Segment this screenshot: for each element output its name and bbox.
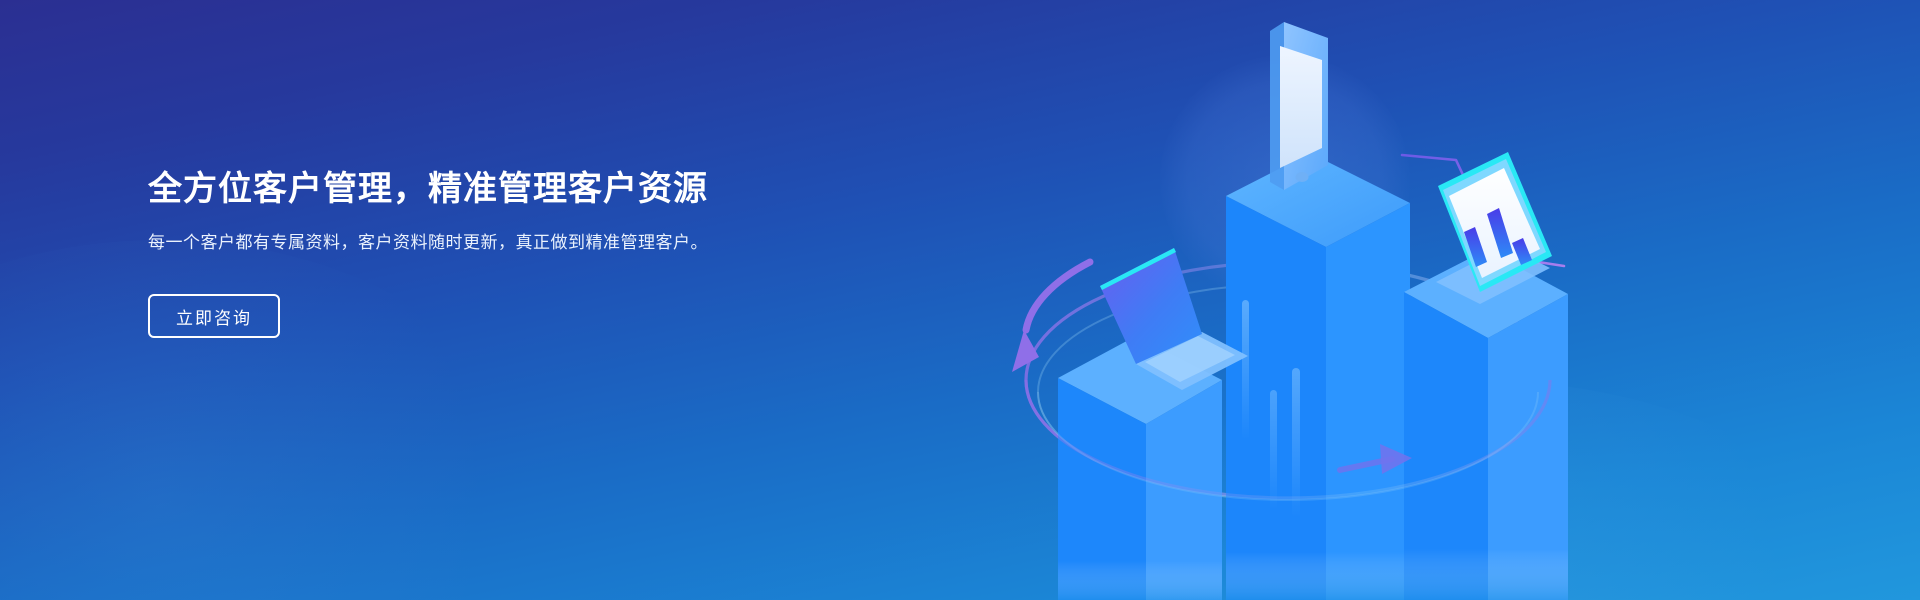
page-title: 全方位客户管理，精准管理客户资源: [148, 168, 768, 211]
center-pedestal: [1226, 153, 1410, 600]
right-pedestal: [1404, 250, 1568, 600]
consult-now-button[interactable]: 立即咨询: [148, 294, 280, 338]
tablet-device: [1270, 22, 1328, 190]
hero-subtitle: 每一个客户都有专属资料，客户资料随时更新，真正做到精准管理客户。: [148, 229, 748, 257]
hero-text-column: 全方位客户管理，精准管理客户资源 每一个客户都有专属资料，客户资料随时更新，真正…: [148, 168, 768, 338]
hero-banner: 全方位客户管理，精准管理客户资源 每一个客户都有专属资料，客户资料随时更新，真正…: [0, 0, 1920, 600]
orbit-arrow-left-icon: [1012, 262, 1090, 372]
hero-illustration: [940, 0, 1640, 600]
